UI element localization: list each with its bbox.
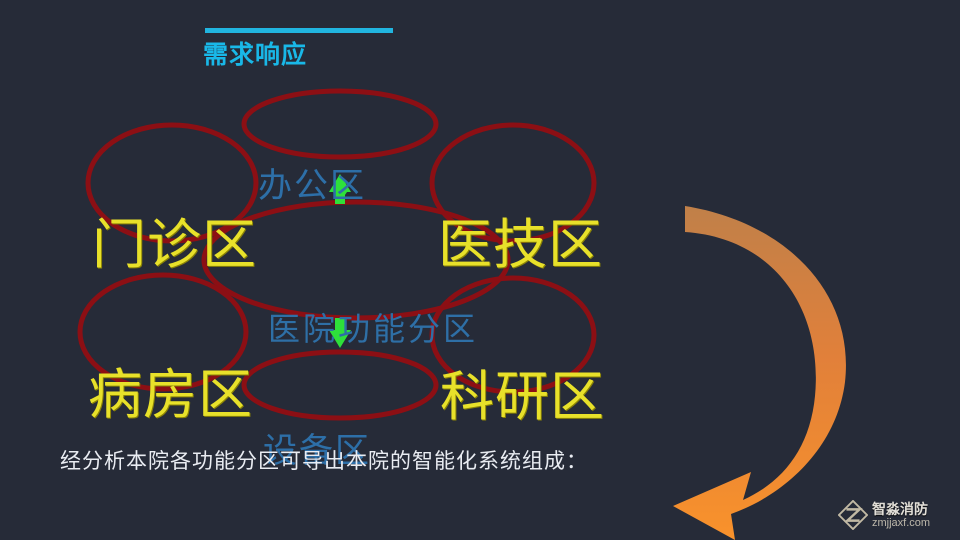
page-title: 需求响应 [203, 42, 307, 70]
slide-canvas: 需求响应 [0, 0, 960, 540]
curved-down-left-arrow-icon [655, 200, 865, 540]
watermark: 智淼消防 zmjjaxf.com [838, 494, 956, 536]
ellipse-outpatient [88, 125, 256, 241]
watermark-logo-icon [838, 500, 868, 530]
slide-caption: 经分析本院各功能分区可导出本院的智能化系统组成： [60, 445, 588, 475]
hospital-zone-diagram: 门诊区 办公区 医技区 病房区 科研区 设备区 医院功能分区 [0, 70, 660, 430]
ellipse-ward [80, 275, 246, 389]
down-arrow-icon [329, 318, 351, 348]
watermark-brand-name: 智淼消防 [872, 502, 930, 516]
title-underline-rule [205, 28, 393, 33]
ellipse-center [204, 202, 508, 318]
up-arrow-icon [329, 174, 351, 204]
zone-ellipses-svg [0, 70, 660, 430]
arrow-shape [673, 206, 846, 540]
ellipse-office [244, 91, 436, 157]
ellipse-equipment [244, 352, 436, 418]
ellipse-research [432, 278, 594, 392]
watermark-text-block: 智淼消防 zmjjaxf.com [872, 502, 930, 529]
watermark-url: zmjjaxf.com [872, 518, 930, 529]
ellipse-medtech [432, 125, 594, 241]
